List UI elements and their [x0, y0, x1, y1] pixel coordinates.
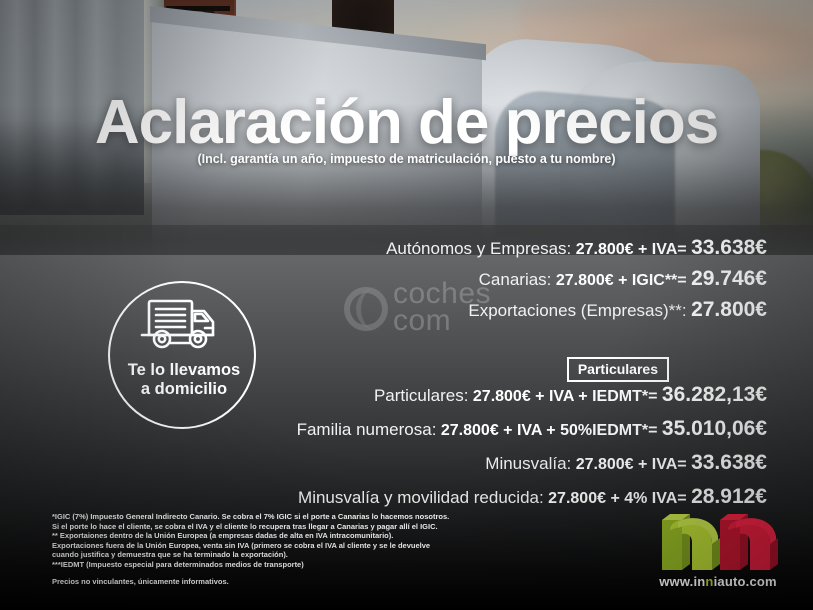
price-total: 33.638€	[691, 236, 767, 259]
price-row: Canarias: 27.800€ + IGIC**= 29.746€	[27, 267, 767, 291]
price-total: 33.638€	[691, 451, 767, 474]
price-formula: 27.800€ + IGIC**=	[556, 272, 687, 289]
price-row: Particulares: 27.800€ + IVA + IEDMT*= 36…	[7, 383, 767, 407]
footnote-line: ***IEDMT (Impuesto especial para determi…	[52, 560, 472, 570]
logo-url-accent: n	[705, 574, 713, 589]
price-formula: 27.800€ + IVA + 50%IEDMT*=	[441, 422, 658, 439]
page-title: Aclaración de precios	[0, 92, 813, 154]
logo-url[interactable]: www.inniauto.com	[648, 574, 788, 589]
footnotes: *IGIC (7%) Impuesto General Indirecto Ca…	[52, 512, 472, 586]
price-row: Familia numerosa: 27.800€ + IVA + 50%IED…	[7, 417, 767, 441]
footnote-line: *IGIC (7%) Impuesto General Indirecto Ca…	[52, 512, 472, 522]
price-formula: 27.800€ + IVA=	[576, 456, 687, 473]
logo-url-suffix: iauto.com	[714, 574, 777, 589]
price-formula: 27.800€ + IVA=	[576, 241, 687, 258]
price-label: Particulares:	[374, 386, 468, 405]
private-price-list: Particulares: 27.800€ + IVA + IEDMT*= 36…	[7, 383, 767, 519]
logo-url-prefix: www.in	[659, 574, 705, 589]
price-total: 28.912€	[691, 485, 767, 508]
price-total: 36.282,13€	[662, 383, 767, 406]
price-total: 35.010,06€	[662, 417, 767, 440]
footnote-line: cuando justifica y demuestra que se ha t…	[52, 550, 472, 560]
price-label: Familia numerosa:	[297, 420, 437, 439]
footnote-disclaimer: Precios no vinculantes, únicamente infor…	[52, 577, 472, 587]
price-label: Autónomos y Empresas:	[386, 239, 571, 258]
price-clarification-graphic: Aclaración de precios (Incl. garantía un…	[0, 0, 813, 610]
footnote-line: ** Exportaiones dentro de la Unión Europ…	[52, 531, 472, 541]
price-label: Minusvalía y movilidad reducida:	[298, 488, 544, 507]
inniauto-logo[interactable]: www.inniauto.com	[648, 512, 788, 590]
footnote-line: Exportaciones fuera de la Unión Europea,…	[52, 541, 472, 551]
home-delivery-line-1: Te lo llevamos	[110, 361, 258, 380]
price-row: Minusvalía y movilidad reducida: 27.800€…	[7, 485, 767, 509]
price-formula: 27.800€ + IVA + IEDMT*=	[473, 388, 658, 405]
price-formula: 27.800€ + 4% IVA=	[548, 490, 686, 507]
price-total: 27.800€	[691, 298, 767, 321]
price-row: Minusvalía: 27.800€ + IVA= 33.638€	[7, 451, 767, 475]
section-header-particulares: Particulares	[567, 357, 669, 382]
price-label: Minusvalía:	[485, 454, 571, 473]
page-subtitle: (Incl. garantía un año, impuesto de matr…	[0, 152, 813, 166]
price-row: Exportaciones (Empresas)**: 27.800€	[27, 298, 767, 322]
footnote-line: Si el porte lo hace el cliente, se cobra…	[52, 522, 472, 532]
price-label: Exportaciones (Empresas)**:	[468, 301, 686, 320]
price-label: Canarias:	[479, 270, 552, 289]
price-row: Autónomos y Empresas: 27.800€ + IVA= 33.…	[27, 236, 767, 260]
footnote-spacer	[52, 570, 472, 577]
price-total: 29.746€	[691, 267, 767, 290]
business-price-list: Autónomos y Empresas: 27.800€ + IVA= 33.…	[27, 236, 767, 329]
nn-logo-icon	[648, 512, 788, 574]
